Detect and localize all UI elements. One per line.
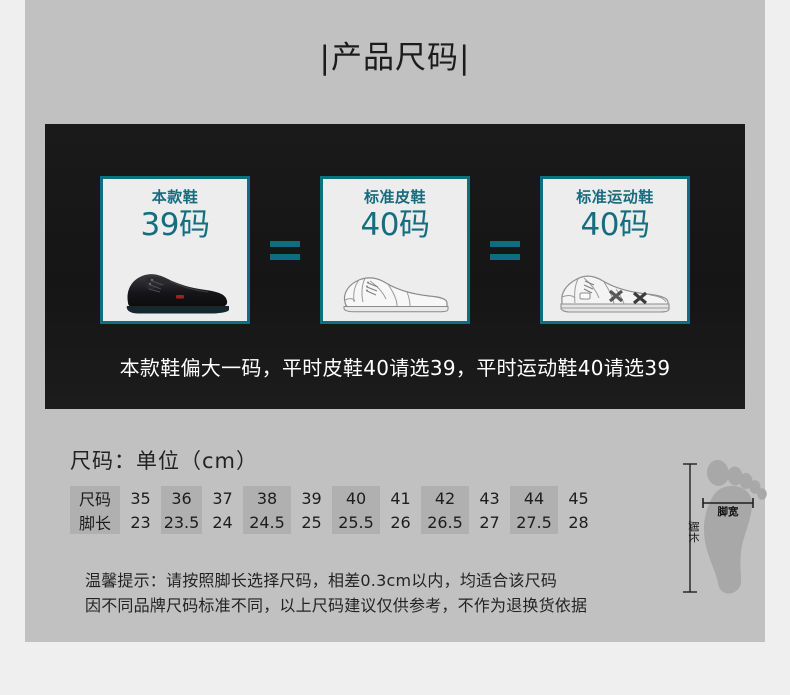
size-cell: 43 xyxy=(469,486,510,510)
foot-length-cell: 23.5 xyxy=(161,510,202,534)
size-advice-banner: 本款鞋偏大一码，平时皮鞋40请选39，平时运动鞋40请选39 xyxy=(45,355,745,381)
page-title: |产品尺码| xyxy=(25,38,765,78)
size-cell: 38 xyxy=(243,486,291,510)
equals-sign-1 xyxy=(250,230,320,270)
foot-length-label: 脚长 xyxy=(687,521,701,543)
size-table-block: 尺码：单位（cm） 尺码 35 36 37 38 39 40 41 42 43 … xyxy=(70,446,690,534)
size-cell: 35 xyxy=(120,486,161,510)
equals-sign-2 xyxy=(470,230,540,270)
size-cards-row: 本款鞋 39码 xyxy=(45,170,745,330)
foot-length-cell: 24 xyxy=(202,510,243,534)
foot-length-cell: 26.5 xyxy=(421,510,469,534)
size-cell: 36 xyxy=(161,486,202,510)
foot-length-cell: 25 xyxy=(291,510,332,534)
product-size-page-panel: |产品尺码| 本款鞋 39码 xyxy=(25,0,765,642)
size-cell: 45 xyxy=(558,486,599,510)
sneaker-outline-icon xyxy=(543,255,687,317)
size-card-value: 40码 xyxy=(361,207,430,243)
note-line: 因不同品牌尺码标准不同，以上尺码建议仅供参考，不作为退换货依据 xyxy=(85,593,587,618)
size-card-value: 40码 xyxy=(581,207,650,243)
foot-width-label: 脚宽 xyxy=(718,505,739,518)
foot-length-cell: 26 xyxy=(380,510,421,534)
size-card-standard-dress-shoe[interactable]: 标准皮鞋 40码 xyxy=(320,176,470,324)
row-label-foot-length: 脚长 xyxy=(70,510,120,534)
foot-length-cell: 23 xyxy=(120,510,161,534)
size-card-label: 本款鞋 xyxy=(152,188,199,206)
size-card-label: 标准运动鞋 xyxy=(576,188,654,206)
foot-length-cell: 28 xyxy=(558,510,599,534)
size-comparison-panel: 本款鞋 39码 xyxy=(45,124,745,409)
table-row: 尺码 35 36 37 38 39 40 41 42 43 44 45 xyxy=(70,486,599,510)
size-cell: 37 xyxy=(202,486,243,510)
foot-length-cell: 27.5 xyxy=(510,510,558,534)
size-card-value: 39码 xyxy=(141,207,210,243)
size-cell: 44 xyxy=(510,486,558,510)
size-card-label: 标准皮鞋 xyxy=(364,188,426,206)
size-cell: 40 xyxy=(332,486,380,510)
size-card-this-shoe[interactable]: 本款鞋 39码 xyxy=(100,176,250,324)
foot-measurement-diagram: 脚长 脚宽 xyxy=(670,450,780,600)
foot-length-cell: 24.5 xyxy=(243,510,291,534)
size-cell: 39 xyxy=(291,486,332,510)
black-leather-shoe-icon xyxy=(103,255,247,317)
size-notes: 温馨提示：请按照脚长选择尺码，相差0.3cm以内，均适合该尺码 因不同品牌尺码标… xyxy=(85,568,587,618)
dress-shoe-outline-icon xyxy=(323,255,467,317)
size-table: 尺码 35 36 37 38 39 40 41 42 43 44 45 脚长 2… xyxy=(70,486,599,534)
table-row: 脚长 23 23.5 24 24.5 25 25.5 26 26.5 27 27… xyxy=(70,510,599,534)
foot-length-cell: 25.5 xyxy=(332,510,380,534)
size-cell: 41 xyxy=(380,486,421,510)
size-cell: 42 xyxy=(421,486,469,510)
note-line: 温馨提示：请按照脚长选择尺码，相差0.3cm以内，均适合该尺码 xyxy=(85,568,587,593)
row-label-size: 尺码 xyxy=(70,486,120,510)
foot-length-cell: 27 xyxy=(469,510,510,534)
size-card-standard-sneaker[interactable]: 标准运动鞋 40码 xyxy=(540,176,690,324)
size-table-heading: 尺码：单位（cm） xyxy=(70,446,690,476)
